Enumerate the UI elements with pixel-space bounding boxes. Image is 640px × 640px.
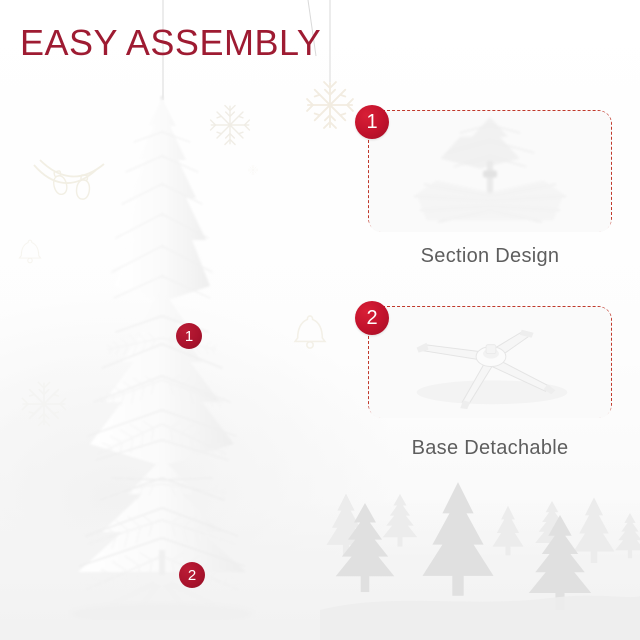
- product-christmas-tree: [50, 80, 350, 620]
- callout-caption-section-design: Section Design: [368, 245, 612, 268]
- tree-section-top: [112, 96, 212, 310]
- tree-section-middle: [88, 288, 236, 480]
- forest-front-layer: [336, 482, 591, 610]
- callout-photo-base-detachable: [369, 307, 611, 418]
- callout-badge-1: 1: [355, 105, 389, 139]
- callout-card-base-detachable[interactable]: [368, 306, 612, 418]
- forest-silhouettes: [320, 460, 640, 640]
- tree-marker-1: 1: [176, 323, 202, 349]
- forest-snow-drift: [320, 596, 640, 640]
- page-title: EASY ASSEMBLY: [20, 22, 321, 64]
- callout-card-section-design[interactable]: [368, 110, 612, 232]
- callout-badge-2: 2: [355, 301, 389, 335]
- callout-caption-base-detachable: Base Detachable: [368, 437, 612, 460]
- callout-photo-section-design: [369, 111, 611, 232]
- tree-marker-2: 2: [179, 562, 205, 588]
- tree-shadow: [70, 603, 254, 620]
- infographic-canvas: 1 2: [0, 0, 640, 640]
